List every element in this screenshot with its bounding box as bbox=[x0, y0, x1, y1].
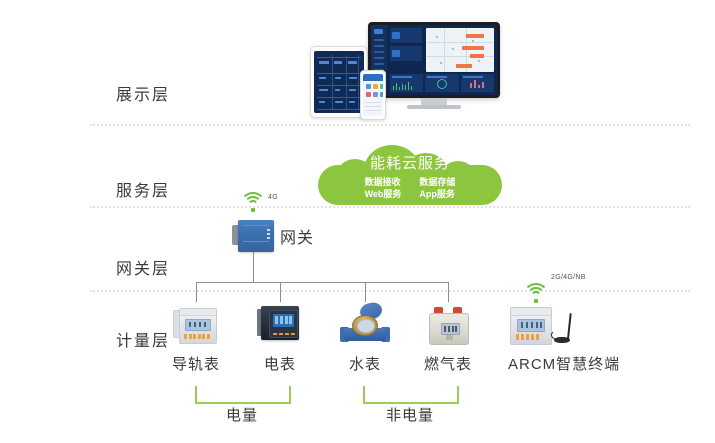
connector-bus bbox=[196, 282, 449, 283]
layer-title-display: 展示层 bbox=[88, 81, 198, 105]
gateway-device bbox=[232, 220, 274, 252]
electric-meter-device bbox=[257, 304, 303, 344]
connector-gateway-trunk bbox=[253, 252, 254, 282]
monitor-bezel bbox=[368, 22, 500, 98]
rail-meter-device bbox=[173, 306, 219, 344]
separator-display-service bbox=[90, 124, 690, 126]
bracket-non-electric-quantity bbox=[363, 386, 459, 404]
connector-drop-gas-meter bbox=[448, 282, 449, 302]
connector-drop-water-meter bbox=[365, 282, 366, 302]
cloud-left-column: 数据接收 Web服务 bbox=[365, 176, 402, 200]
arcm-terminal-label: ARCM智慧终端 bbox=[508, 353, 620, 374]
gateway-body bbox=[238, 220, 274, 252]
monitor-neck bbox=[421, 98, 447, 105]
separator-service-gateway bbox=[90, 206, 690, 208]
gateway-network-label: 4G bbox=[268, 194, 278, 201]
arcm-terminal-device bbox=[510, 305, 580, 347]
cloud-item-web-service: Web服务 bbox=[365, 188, 402, 200]
cloud-item-data-receive: 数据接收 bbox=[365, 176, 402, 188]
tablet-screen bbox=[314, 51, 364, 113]
cloud-title: 能耗云服务 bbox=[370, 152, 450, 173]
gas-meter-label: 燃气表 bbox=[413, 353, 483, 374]
bracket-label-electric-quantity: 电量 bbox=[196, 404, 288, 425]
wifi-icon-arcm bbox=[523, 283, 549, 303]
cloud-item-data-storage: 数据存储 bbox=[419, 176, 455, 188]
bracket-electric-quantity bbox=[195, 386, 291, 404]
cloud-service: 能耗云服务 数据接收 Web服务 数据存储 App服务 bbox=[318, 143, 502, 205]
gateway-label: 网关 bbox=[280, 224, 314, 248]
water-meter-label: 水表 bbox=[330, 353, 400, 374]
dashboard-bottom-cards bbox=[390, 74, 494, 92]
display-layer-devices bbox=[300, 14, 530, 119]
layer-title-service: 服务层 bbox=[88, 177, 198, 201]
arcm-network-label: 2G/4G/NB bbox=[551, 274, 586, 281]
cloud-right-column: 数据存储 App服务 bbox=[419, 176, 455, 200]
water-meter-device bbox=[340, 303, 390, 345]
smartphone-screen bbox=[363, 74, 383, 116]
connector-drop-rail-meter bbox=[196, 282, 197, 302]
gas-meter-device bbox=[426, 306, 470, 344]
separator-gateway-metering bbox=[90, 290, 690, 292]
monitor-base bbox=[407, 105, 461, 109]
cloud-item-app-service: App服务 bbox=[419, 188, 455, 200]
layer-title-gateway: 网关层 bbox=[88, 255, 198, 279]
architecture-diagram: 展示层 服务层 网关层 计量层 bbox=[0, 0, 715, 443]
connector-drop-electric-meter bbox=[280, 282, 281, 302]
smartphone-device bbox=[360, 70, 386, 120]
monitor-device bbox=[368, 22, 500, 106]
bracket-label-non-electric-quantity: 非电量 bbox=[364, 404, 456, 425]
dashboard-map bbox=[426, 28, 494, 72]
wifi-icon bbox=[240, 192, 266, 212]
rail-meter-label: 导轨表 bbox=[161, 353, 231, 374]
dashboard-stat-cards bbox=[390, 28, 422, 64]
cloud-text-block: 能耗云服务 数据接收 Web服务 数据存储 App服务 bbox=[318, 143, 502, 205]
electric-meter-label: 电表 bbox=[245, 353, 315, 374]
monitor-screen bbox=[371, 25, 497, 95]
